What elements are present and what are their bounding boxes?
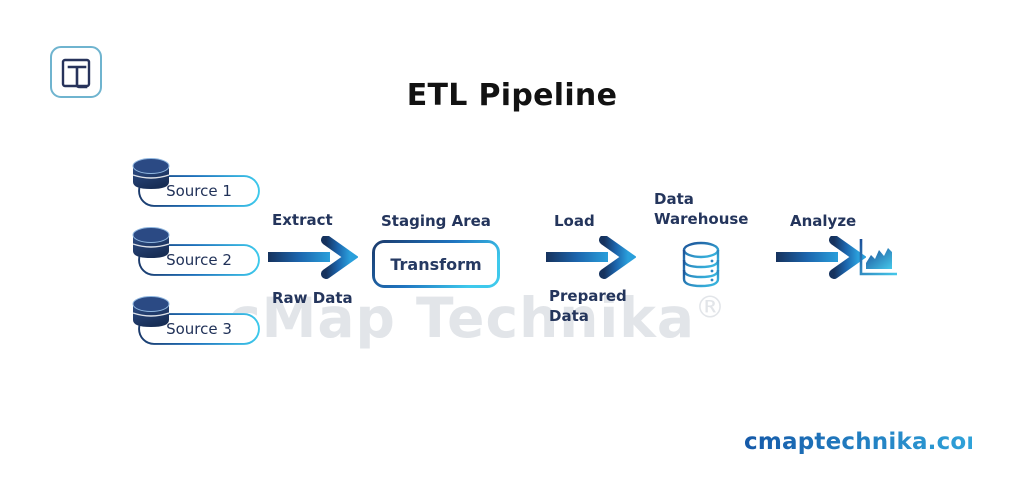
prepared-data-label: Prepared Data [549,286,627,326]
source-label-3: Source 3 [166,320,232,338]
data-warehouse-icon [676,239,726,291]
data-warehouse-label: Data Warehouse [654,189,748,229]
extract-label: Extract [272,210,333,230]
transform-box[interactable]: Transform [372,240,500,288]
source-label-1: Source 1 [166,182,232,200]
site-url-label: cmaptechnika.com [744,429,972,455]
arrow-right-icon [546,236,636,280]
page-title: ETL Pipeline [0,78,1024,113]
arrow-right-icon [268,236,358,280]
analyze-label: Analyze [790,211,856,231]
source-node-1[interactable]: Source 1 [130,155,260,211]
transform-box-inner: Transform [375,243,497,285]
staging-area-label: Staging Area [381,211,491,231]
raw-data-label: Raw Data [272,288,353,308]
source-node-2[interactable]: Source 2 [130,224,260,280]
site-url-text: cmaptechnika.com [744,426,972,456]
database-cylinder-icon [130,293,172,335]
etl-pipeline-diagram: ETL Pipeline cMap Technika® Source 1 Sou… [0,0,1024,497]
area-chart-icon [858,237,900,279]
arrow-right-icon [776,236,866,280]
transform-label: Transform [390,255,481,274]
database-cylinder-icon [130,224,172,266]
source-node-3[interactable]: Source 3 [130,293,260,349]
load-label: Load [554,211,595,231]
site-url[interactable]: cmaptechnika.com [744,426,972,456]
database-cylinder-icon [130,155,172,197]
watermark-registered-symbol: ® [695,291,726,326]
source-label-2: Source 2 [166,251,232,269]
